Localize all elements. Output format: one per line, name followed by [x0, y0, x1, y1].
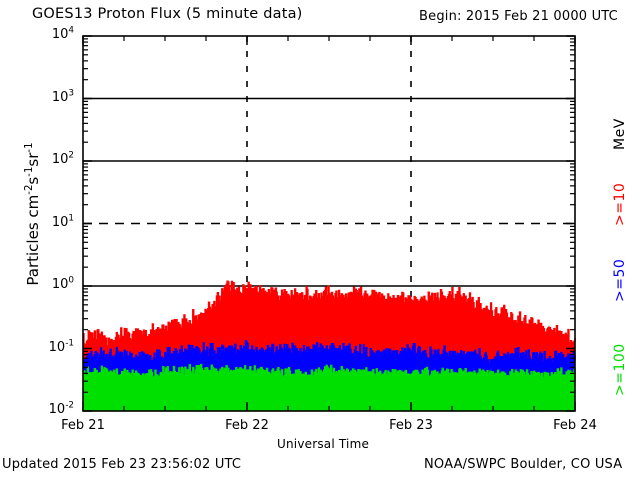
plot-svg: [0, 0, 640, 480]
chart-page: GOES13 Proton Flux (5 minute data) Begin…: [0, 0, 640, 480]
plot-area: [0, 0, 640, 480]
